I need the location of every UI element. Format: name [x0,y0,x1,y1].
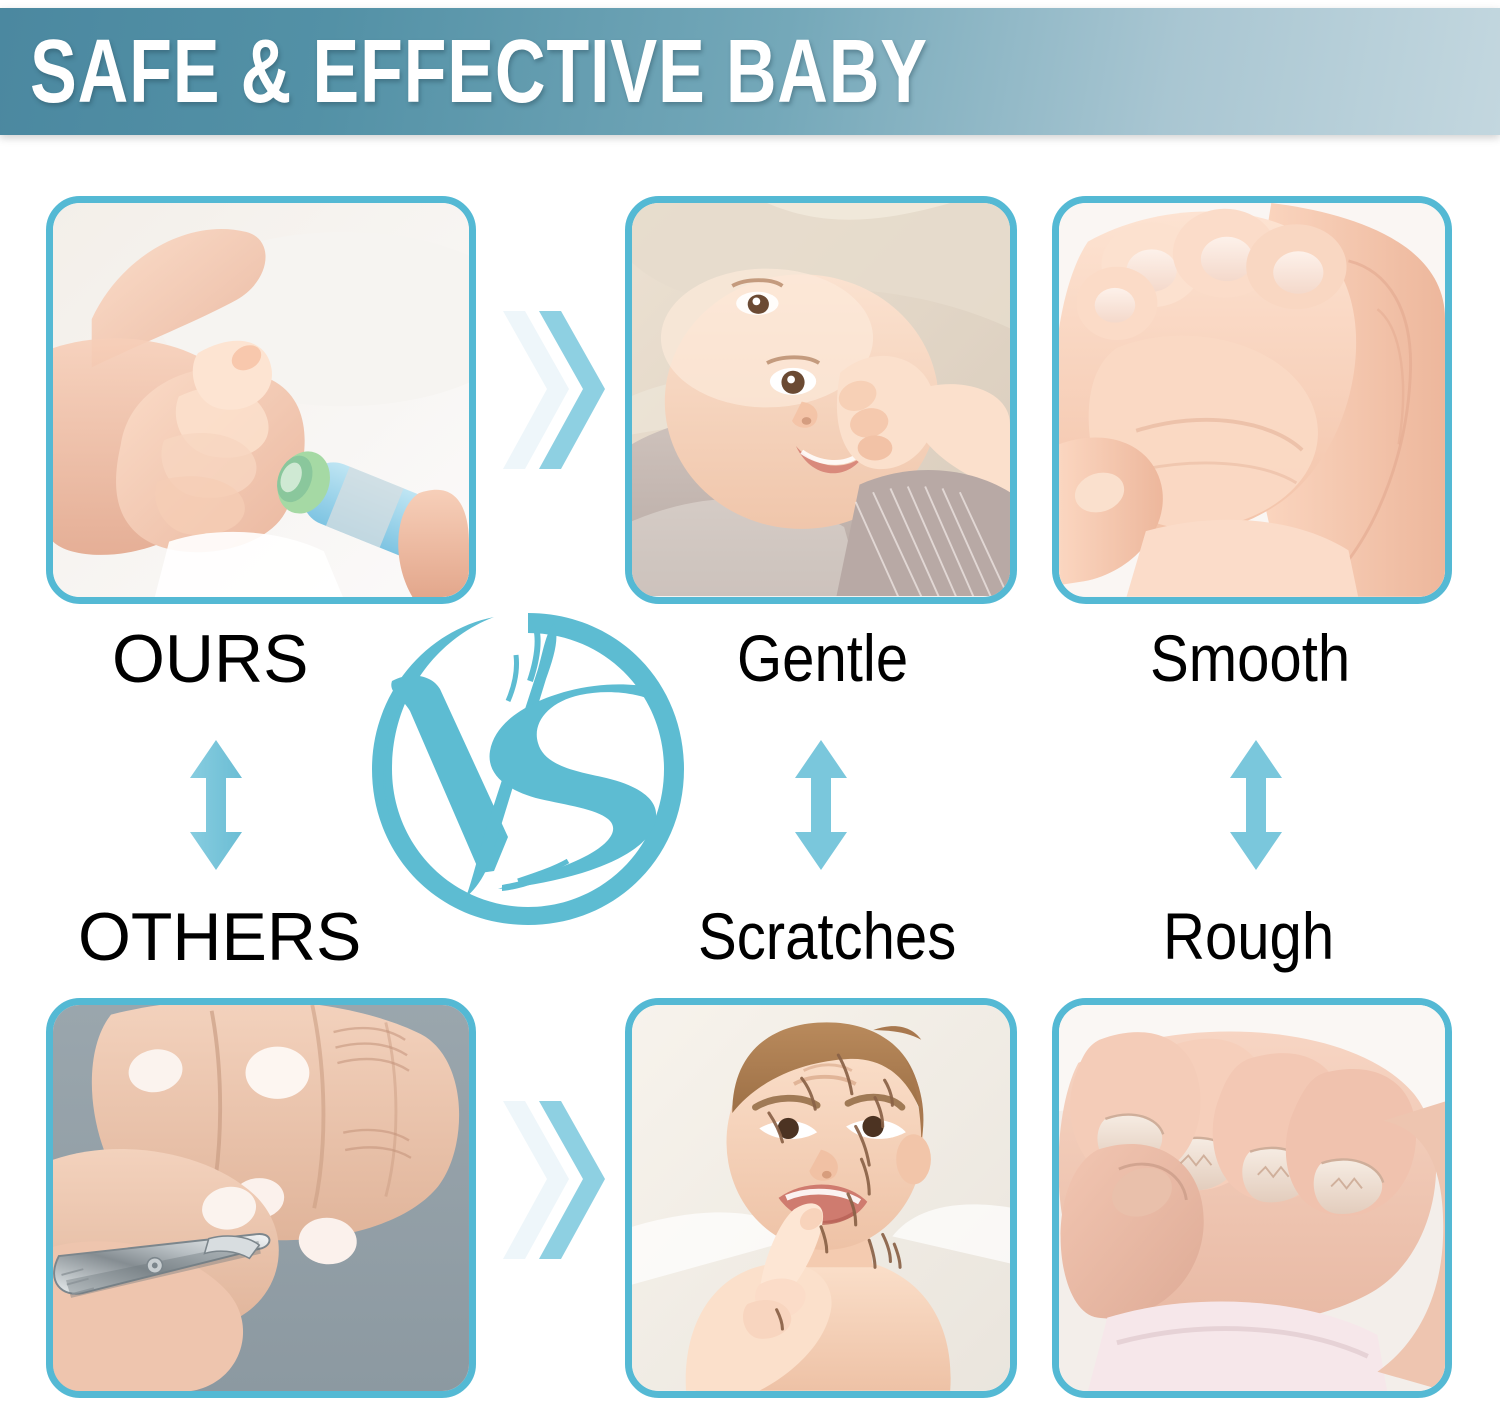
image-others-rough-nails [1059,1005,1445,1391]
image-others-crying-baby [632,1005,1010,1391]
arrow-ours-vs-others [188,740,244,870]
double-chevron-right-icon [495,305,615,475]
image-ours-gentle-baby [632,203,1010,596]
double-chevron-right-icon [495,1095,615,1265]
double-arrow-vertical-icon [1228,740,1284,870]
card-others-crying-baby[interactable] [625,998,1017,1398]
chevron-others-result [495,1095,615,1265]
chevron-ours-result [495,305,615,475]
label-gentle: Gentle [737,625,908,691]
image-ours-trimmer [53,203,469,598]
double-arrow-vertical-icon [188,740,244,870]
vs-badge-icon [340,585,700,945]
label-others: OTHERS [78,903,361,971]
vs-badge [340,585,700,945]
label-scratches: Scratches [698,903,956,969]
card-ours-gentle-baby[interactable] [625,196,1017,604]
card-others-clippers[interactable] [46,998,476,1398]
label-smooth: Smooth [1150,625,1350,691]
double-arrow-vertical-icon [793,740,849,870]
image-others-clippers [53,1005,469,1392]
card-ours-smooth-nails[interactable] [1052,196,1452,604]
arrow-smooth-vs-rough [1228,740,1284,870]
card-ours-trimmer[interactable] [46,196,476,604]
page-title: SAFE & EFFECTIVE BABY [30,27,928,117]
header-banner: SAFE & EFFECTIVE BABY [0,8,1500,135]
card-others-rough-nails[interactable] [1052,998,1452,1398]
arrow-gentle-vs-scratches [793,740,849,870]
label-rough: Rough [1163,903,1334,969]
image-ours-smooth-nails [1059,203,1445,597]
label-ours: OURS [112,625,308,693]
